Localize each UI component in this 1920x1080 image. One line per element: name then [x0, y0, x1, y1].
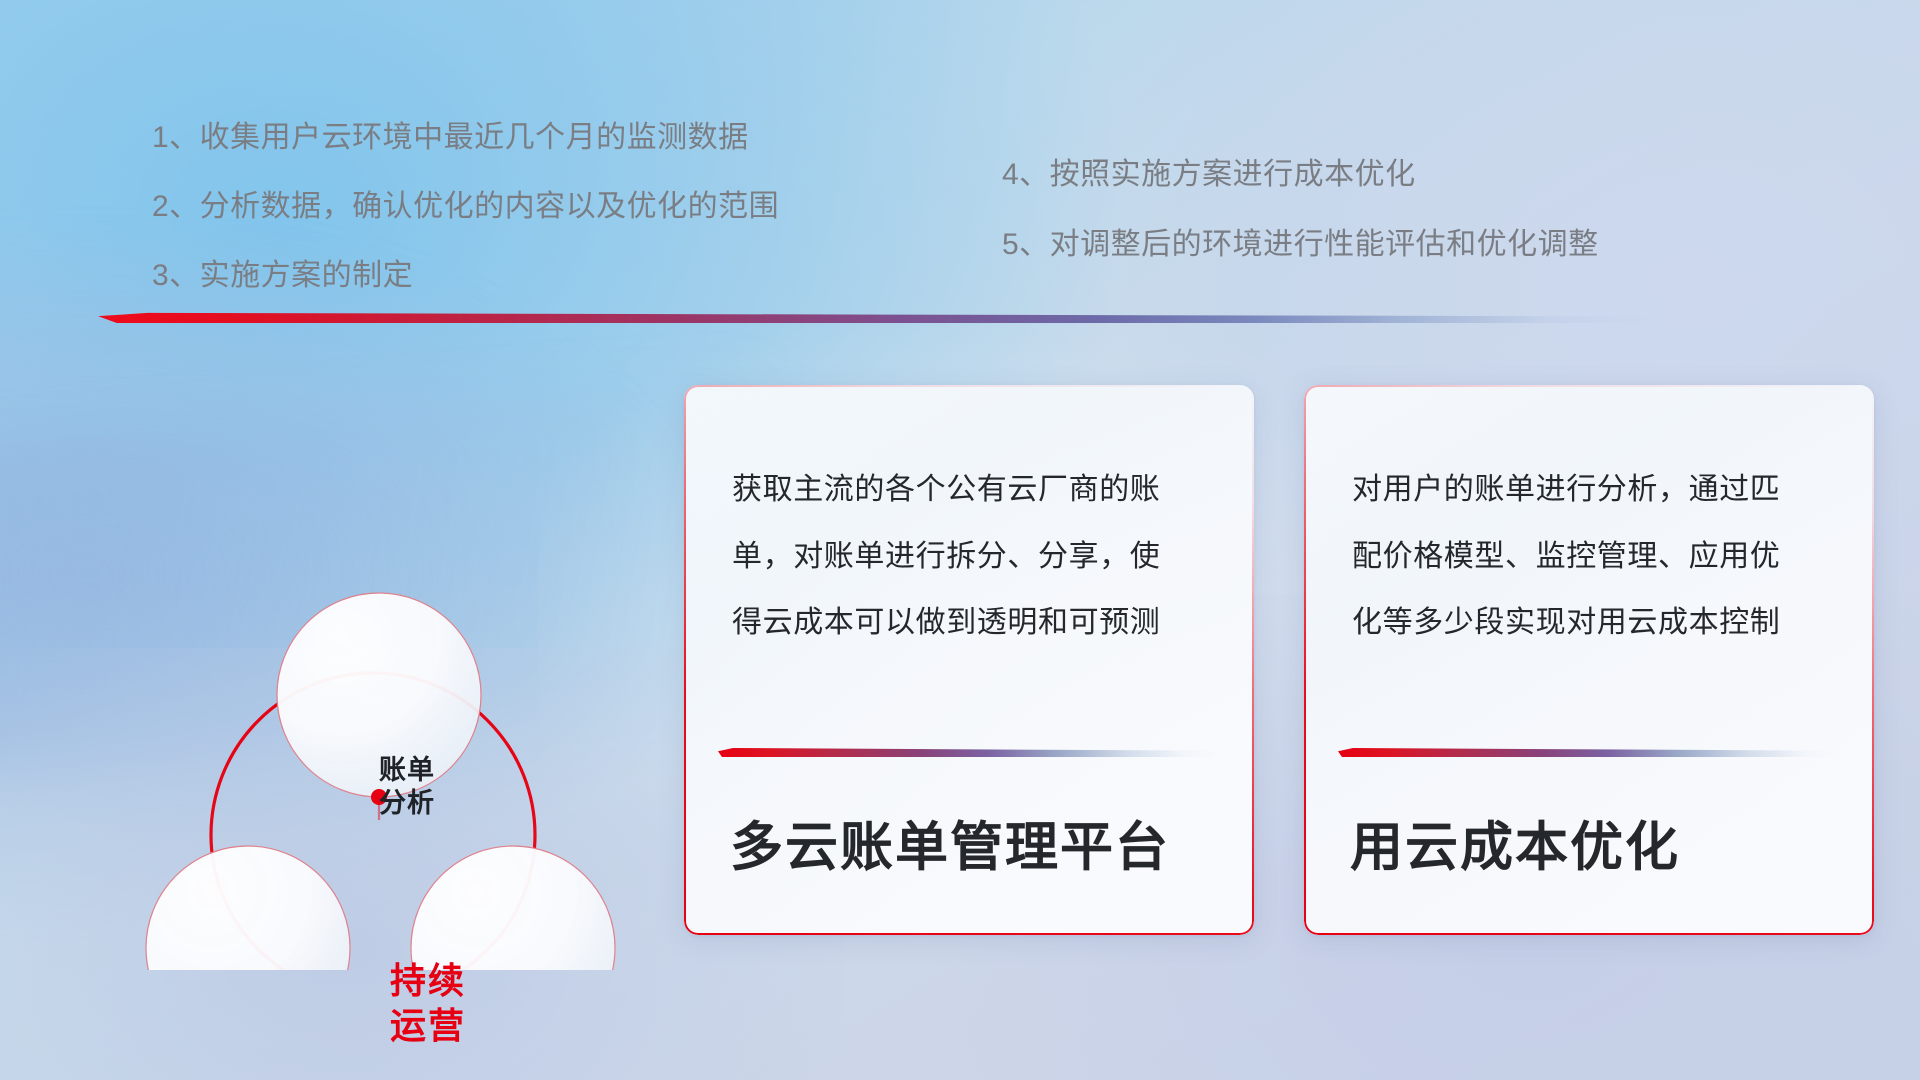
feature-card-multi-cloud-billing-platform[interactable]: 获取主流的各个公有云厂商的账 单，对账单进行拆分、分享，使 得云成本可以做到透明…: [684, 385, 1254, 935]
feature-card-cloud-cost-optimization[interactable]: 对用户的账单进行分析，通过匹 配价格模型、监控管理、应用优 化等多少段实现对用云…: [1304, 385, 1874, 935]
steps-list-left: 1、收集用户云环境中最近几个月的监测数据 2、分析数据，确认优化的内容以及优化的…: [152, 123, 779, 330]
step-item-3: 3、实施方案的制定: [152, 261, 779, 291]
venn-label-billing-analysis: 账单 分析: [317, 754, 497, 820]
card-2-divider: [1338, 748, 1838, 757]
steps-list-right: 4、按照实施方案进行成本优化 5、对调整后的环境进行性能评估和优化调整: [1002, 160, 1599, 300]
card-1-divider: [718, 748, 1218, 757]
card-2-body: 对用户的账单进行分析，通过匹 配价格模型、监控管理、应用优 化等多少段实现对用云…: [1352, 457, 1834, 657]
card-1-body-line-2: 单，对账单进行拆分、分享，使: [732, 524, 1214, 591]
card-1-title: 多云账单管理平台: [730, 805, 1170, 881]
step-item-5: 5、对调整后的环境进行性能评估和优化调整: [1002, 230, 1599, 260]
card-2-title: 用云成本优化: [1350, 805, 1680, 881]
section-divider: [98, 312, 1658, 323]
card-2-body-line-3: 化等多少段实现对用云成本控制: [1352, 590, 1834, 657]
card-2-divider-bar: [1338, 748, 1838, 757]
card-1-body-line-3: 得云成本可以做到透明和可预测: [732, 590, 1214, 657]
step-item-1: 1、收集用户云环境中最近几个月的监测数据: [152, 123, 779, 153]
venn-bubble-bottom-right[interactable]: [411, 846, 615, 970]
step-item-4: 4、按照实施方案进行成本优化: [1002, 160, 1599, 190]
step-item-2: 2、分析数据，确认优化的内容以及优化的范围: [152, 192, 779, 222]
venn-bubble-bottom-left[interactable]: [146, 846, 350, 970]
card-1-divider-bar: [718, 748, 1218, 757]
card-1-body: 获取主流的各个公有云厂商的账 单，对账单进行拆分、分享，使 得云成本可以做到透明…: [732, 457, 1214, 657]
continuous-operations-diagram: 账单 分析 操作 运营 优化 策略 持续 运营: [95, 350, 655, 970]
venn-svg: [95, 350, 655, 970]
venn-label-center: 持续 运营: [333, 958, 523, 1048]
section-divider-bar: [98, 312, 1658, 323]
card-1-body-line-1: 获取主流的各个公有云厂商的账: [732, 457, 1214, 524]
card-2-body-line-2: 配价格模型、监控管理、应用优: [1352, 524, 1834, 591]
card-2-body-line-1: 对用户的账单进行分析，通过匹: [1352, 457, 1834, 524]
